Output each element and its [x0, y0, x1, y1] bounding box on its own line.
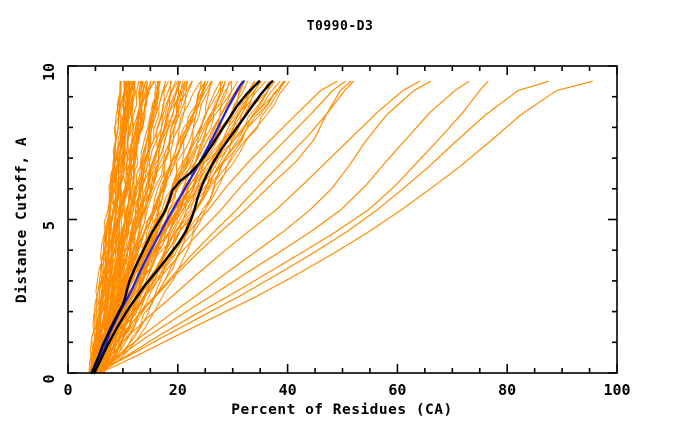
y-tick-label: 10 — [40, 63, 58, 81]
x-tick-label: 100 — [603, 381, 630, 399]
x-tick-label: 0 — [63, 381, 72, 399]
y-tick-label: 5 — [40, 221, 58, 230]
plot-root: 0204060801000510 T0990-D3 Percent of Res… — [0, 0, 680, 440]
y-tick-label: 0 — [40, 374, 58, 383]
x-axis-title: Percent of Residues (CA) — [231, 402, 453, 418]
x-tick-label: 20 — [169, 381, 187, 399]
x-tick-label: 60 — [388, 381, 406, 399]
x-tick-label: 40 — [279, 381, 297, 399]
x-tick-label: 80 — [498, 381, 516, 399]
y-axis-title: Distance Cutoff, A — [14, 137, 30, 303]
scientific-plot: 0204060801000510 T0990-D3 Percent of Res… — [0, 0, 680, 440]
page-title: T0990-D3 — [307, 19, 374, 34]
